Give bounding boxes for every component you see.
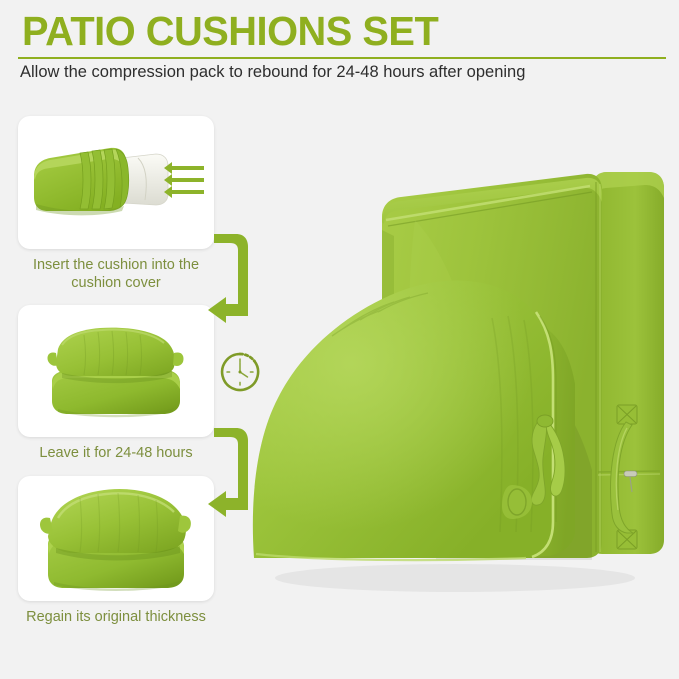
connector-step1-to-step2	[200, 230, 280, 350]
step-card-1: Insert the cushion into the cushion cove…	[18, 116, 218, 292]
page-title: PATIO CUSHIONS SET	[22, 8, 438, 54]
page-subtitle: Allow the compression pack to rebound fo…	[20, 62, 540, 83]
product-image	[240, 140, 679, 610]
step-card-3: Regain its original thickness	[18, 476, 218, 626]
step-3-caption: Regain its original thickness	[18, 608, 214, 626]
insert-direction-arrows	[164, 162, 204, 198]
wait-timer-clock-icon	[216, 348, 264, 396]
step-2-illustration	[18, 305, 214, 437]
infographic-page: PATIO CUSHIONS SET Allow the compression…	[0, 0, 679, 679]
step-1-caption: Insert the cushion into the cushion cove…	[18, 256, 214, 292]
step-1-image-card	[18, 116, 214, 249]
step-3-image-card	[18, 476, 214, 601]
step-1-illustration	[18, 116, 214, 249]
title-divider	[18, 57, 666, 59]
bracket-arrow-icon	[200, 230, 280, 350]
step-card-2: Leave it for 24-48 hours	[18, 305, 218, 462]
steps-column: Insert the cushion into the cushion cove…	[18, 116, 218, 636]
step-3-illustration	[18, 476, 214, 601]
bracket-arrow-icon	[200, 424, 280, 544]
connector-step2-to-step3	[200, 424, 280, 544]
product-illustration	[240, 140, 679, 610]
step-2-caption: Leave it for 24-48 hours	[18, 444, 214, 462]
clock-icon	[216, 348, 264, 396]
step-2-image-card	[18, 305, 214, 437]
